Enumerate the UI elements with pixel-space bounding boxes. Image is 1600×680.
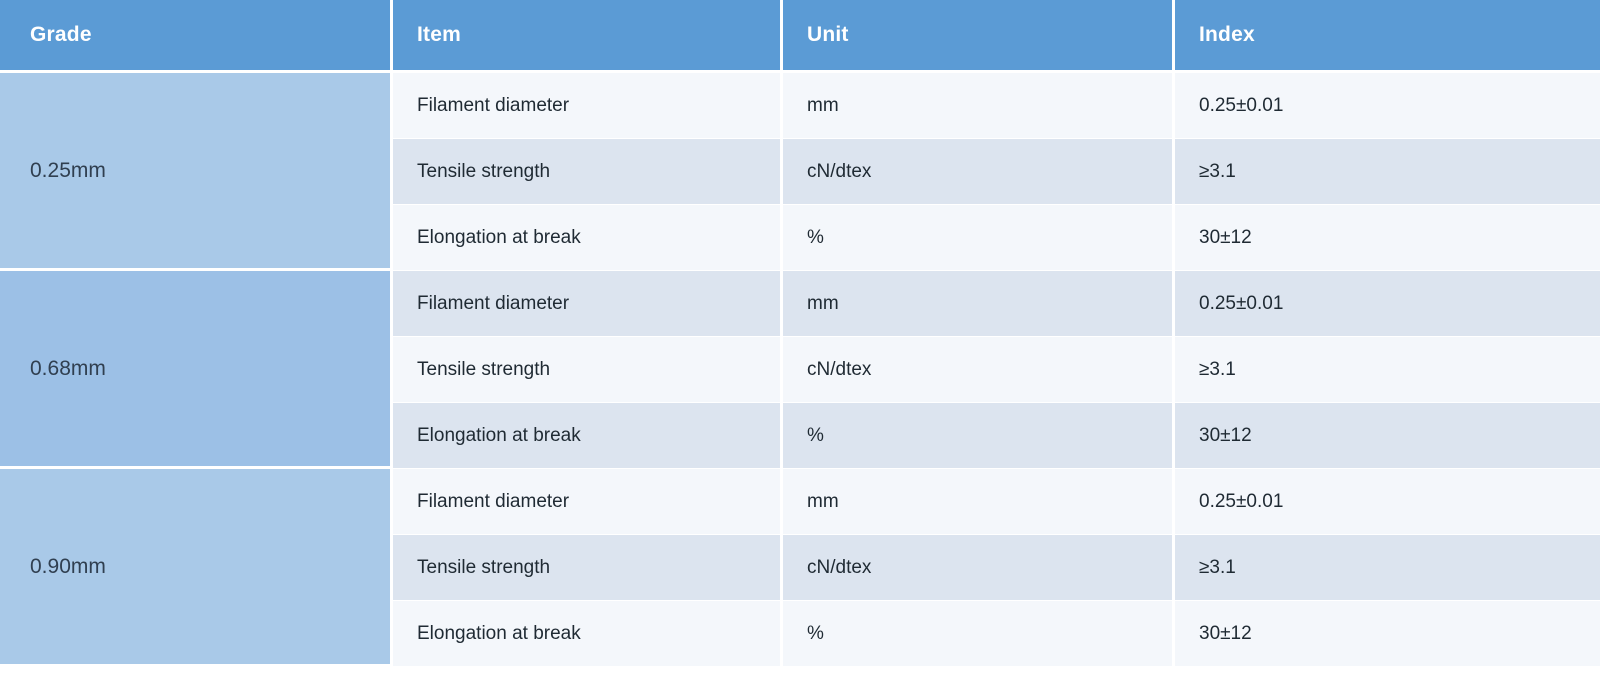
cell-item: Tensile strength xyxy=(393,139,783,205)
cell-item: Elongation at break xyxy=(393,403,783,469)
grade-cell: 0.68mm xyxy=(0,271,393,469)
cell-unit: cN/dtex xyxy=(783,535,1175,601)
column-header-unit[interactable]: Unit xyxy=(783,0,1175,70)
cell-item: Tensile strength xyxy=(393,535,783,601)
table-header-row: Grade Item Unit Index xyxy=(0,0,1600,70)
cell-unit: mm xyxy=(783,469,1175,535)
cell-unit: mm xyxy=(783,73,1175,139)
column-header-index[interactable]: Index xyxy=(1175,0,1600,70)
cell-item: Elongation at break xyxy=(393,601,783,667)
grade-cell: 0.25mm xyxy=(0,73,393,271)
cell-index: 30±12 xyxy=(1175,601,1600,667)
cell-index: 30±12 xyxy=(1175,205,1600,271)
cell-index: 0.25±0.01 xyxy=(1175,271,1600,337)
grade-cell: 0.90mm xyxy=(0,469,393,667)
cell-item: Filament diameter xyxy=(393,469,783,535)
table-row: 0.68mm Filament diameter mm 0.25±0.01 xyxy=(0,271,1600,337)
cell-index: 0.25±0.01 xyxy=(1175,73,1600,139)
cell-unit: % xyxy=(783,205,1175,271)
specification-table: Grade Item Unit Index 0.25mm Filament di… xyxy=(0,0,1600,667)
cell-item: Elongation at break xyxy=(393,205,783,271)
cell-index: ≥3.1 xyxy=(1175,535,1600,601)
cell-index: ≥3.1 xyxy=(1175,139,1600,205)
column-header-grade[interactable]: Grade xyxy=(0,0,393,70)
cell-unit: % xyxy=(783,403,1175,469)
cell-unit: mm xyxy=(783,271,1175,337)
cell-unit: % xyxy=(783,601,1175,667)
cell-unit: cN/dtex xyxy=(783,337,1175,403)
table-body: 0.25mm Filament diameter mm 0.25±0.01 Te… xyxy=(0,70,1600,667)
cell-item: Tensile strength xyxy=(393,337,783,403)
cell-item: Filament diameter xyxy=(393,73,783,139)
cell-index: 30±12 xyxy=(1175,403,1600,469)
column-header-item[interactable]: Item xyxy=(393,0,783,70)
cell-index: 0.25±0.01 xyxy=(1175,469,1600,535)
table-header: Grade Item Unit Index xyxy=(0,0,1600,70)
table-row: 0.25mm Filament diameter mm 0.25±0.01 xyxy=(0,73,1600,139)
table-row: 0.90mm Filament diameter mm 0.25±0.01 xyxy=(0,469,1600,535)
cell-index: ≥3.1 xyxy=(1175,337,1600,403)
cell-item: Filament diameter xyxy=(393,271,783,337)
cell-unit: cN/dtex xyxy=(783,139,1175,205)
